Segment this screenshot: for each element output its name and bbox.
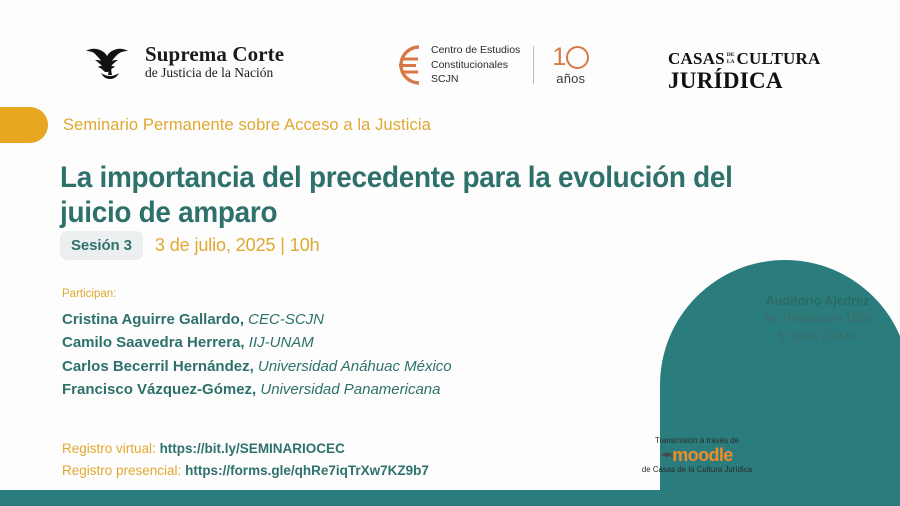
list-item: Francisco Vázquez-Gómez, Universidad Pan…: [62, 378, 452, 401]
page-title: La importancia del precedente para la ev…: [60, 161, 804, 230]
seminar-label: Seminario Permanente sobre Acceso a la J…: [63, 116, 431, 135]
cultura-word-cultura: CULTURA: [737, 50, 821, 67]
participant-name: Camilo Saavedra Herrera,: [62, 334, 245, 351]
scjn-line-1: Suprema Corte: [145, 43, 284, 65]
anniversary-digit: 1: [552, 45, 565, 70]
session-badge: Sesión 3: [60, 231, 143, 260]
broadcast-top-label: Transmisión a través de: [622, 436, 772, 445]
logo-header: Suprema Corte de Justicia de la Nación C…: [0, 18, 900, 94]
cec-wordmark: Centro de Estudios Constitucionales SCJN: [431, 43, 520, 86]
scjn-wordmark: Suprema Corte de Justicia de la Nación: [145, 43, 284, 80]
cec-anniversary: 1 años: [552, 45, 589, 86]
participants-list: Cristina Aguirre Gallardo, CEC-SCJN Cami…: [62, 308, 452, 401]
cec-line-3: SCJN: [431, 72, 520, 86]
participant-affiliation: IIJ-UNAM: [249, 334, 314, 351]
venue-floor: 5° piso, CDMX: [763, 328, 872, 345]
anniversary-number: 1: [552, 45, 589, 70]
eagle-emblem-icon: [84, 42, 136, 82]
participants-label: Participan:: [62, 288, 116, 300]
logo-suprema-corte: Suprema Corte de Justicia de la Nación: [84, 42, 284, 82]
venue-address: Av. Revolución 1508: [763, 310, 872, 327]
anniversary-label: años: [556, 71, 585, 86]
venue-name: Auditorio Ajedrez: [763, 292, 872, 310]
moodle-wordmark: moodle: [672, 446, 732, 464]
list-item: Cristina Aguirre Gallardo, CEC-SCJN: [62, 308, 452, 331]
cultura-dela-stack: DE LA: [727, 52, 735, 64]
event-poster: Suprema Corte de Justicia de la Nación C…: [0, 0, 900, 506]
moodle-logo: moodle: [622, 446, 772, 464]
amber-pill-decoration: [0, 107, 48, 143]
participant-name: Francisco Vázquez-Gómez,: [62, 381, 256, 398]
registration-virtual-row: Registro virtual: https://bit.ly/SEMINAR…: [62, 438, 429, 460]
registration-presencial-url[interactable]: https://forms.gle/qhRe7iqTrXw7KZ9b7: [185, 463, 429, 478]
cultura-line-2: JURÍDICA: [668, 68, 820, 93]
cultura-line-1: CASAS DE LA CULTURA: [668, 50, 820, 67]
registration-virtual-label: Registro virtual:: [62, 441, 156, 456]
cec-c-glyph-icon: [392, 42, 422, 88]
participant-name: Cristina Aguirre Gallardo,: [62, 311, 244, 328]
cec-line-1: Centro de Estudios: [431, 43, 520, 57]
logo-casas-cultura-juridica: CASAS DE LA CULTURA JURÍDICA: [668, 50, 820, 93]
venue-block: Auditorio Ajedrez Av. Revolución 1508 5°…: [763, 292, 872, 345]
registration-virtual-url[interactable]: https://bit.ly/SEMINARIOCEC: [160, 441, 345, 456]
participant-affiliation: Universidad Panamericana: [260, 381, 440, 398]
participant-affiliation: Universidad Anáhuac México: [258, 358, 452, 375]
broadcast-block: Transmisión a través de moodle de Casas …: [622, 436, 772, 474]
cultura-word-casas: CASAS: [668, 50, 725, 67]
cultura-la: LA: [727, 59, 735, 65]
bottom-teal-bar: [0, 490, 900, 506]
logo-centro-estudios: Centro de Estudios Constitucionales SCJN…: [392, 42, 589, 88]
participant-affiliation: CEC-SCJN: [248, 311, 324, 328]
list-item: Camilo Saavedra Herrera, IIJ-UNAM: [62, 331, 452, 354]
registration-presencial-row: Registro presencial: https://forms.gle/q…: [62, 460, 429, 482]
session-row: Sesión 3 3 de julio, 2025 | 10h: [60, 231, 320, 260]
cec-line-2: Constitucionales: [431, 58, 520, 72]
broadcast-bottom-label: de Casas de la Cultura Jurídica: [622, 465, 772, 474]
session-date: 3 de julio, 2025 | 10h: [155, 235, 320, 256]
participant-name: Carlos Becerril Hernández,: [62, 358, 254, 375]
registration-block: Registro virtual: https://bit.ly/SEMINAR…: [62, 438, 429, 481]
logo-divider: [533, 46, 534, 84]
registration-presencial-label: Registro presencial:: [62, 463, 181, 478]
anniversary-zero-ring-icon: [566, 46, 589, 69]
scjn-line-2: de Justicia de la Nación: [145, 66, 284, 80]
list-item: Carlos Becerril Hernández, Universidad A…: [62, 355, 452, 378]
